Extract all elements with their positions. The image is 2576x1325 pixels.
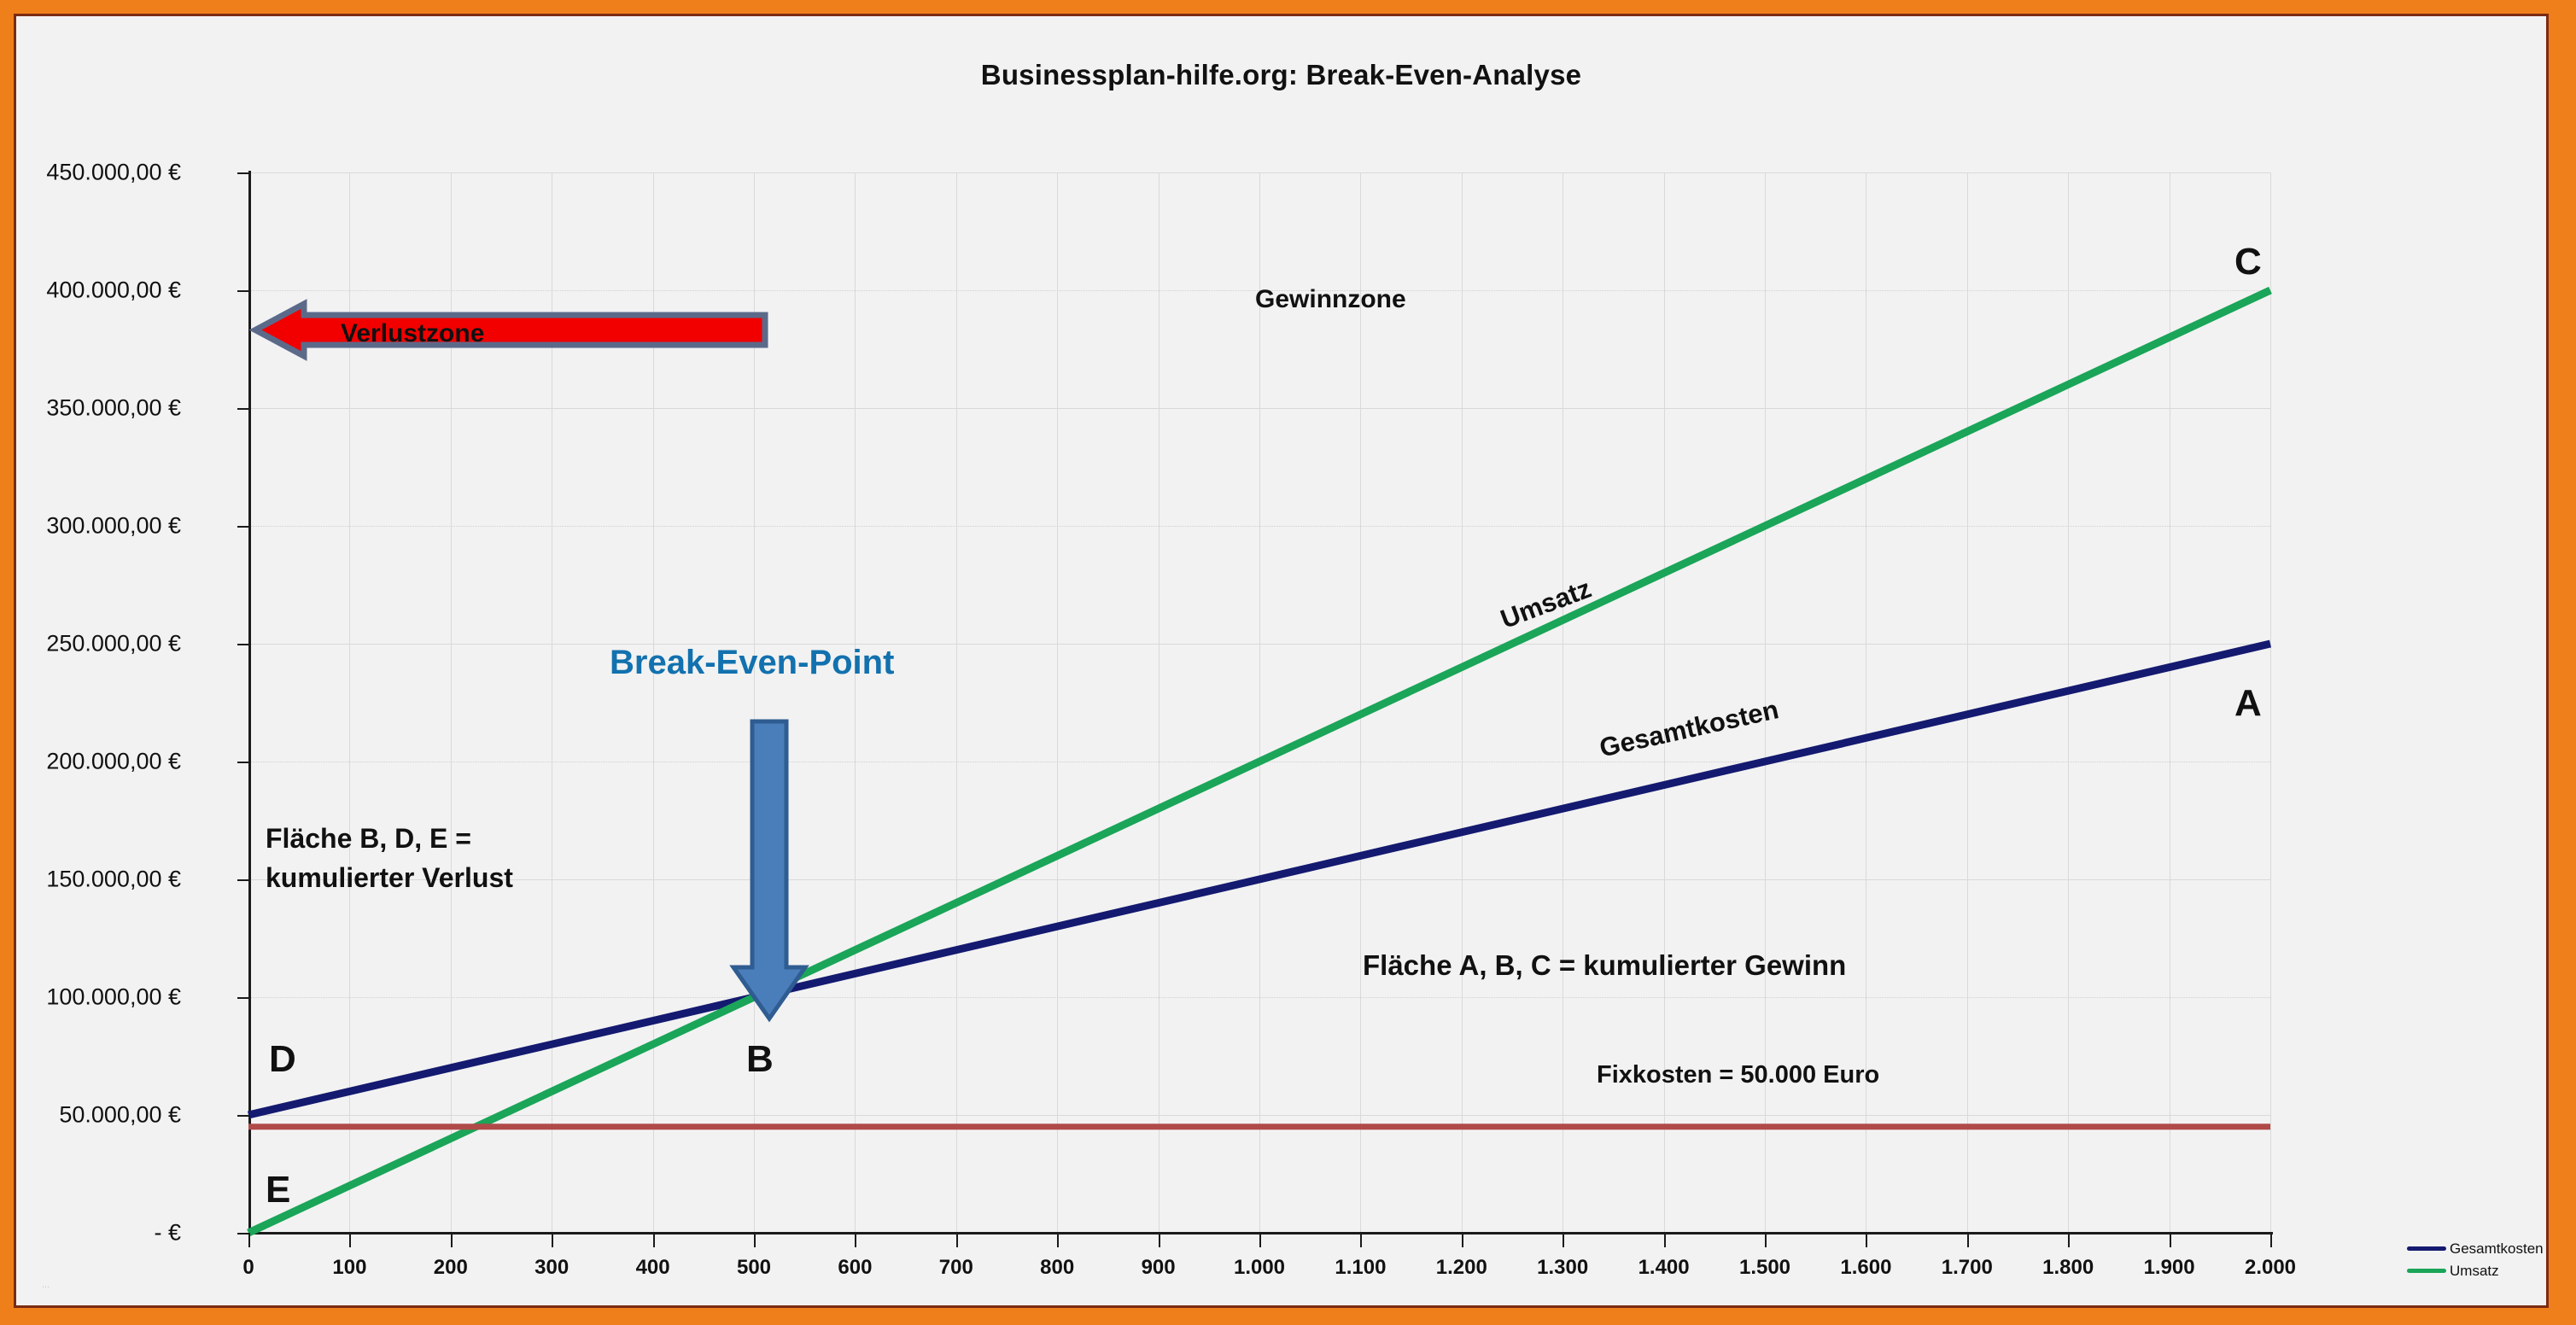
x-axis-tick [349,1235,351,1247]
x-axis-tick-label: 300 [534,1256,569,1280]
x-axis-tick-label: 2.000 [2245,1256,2296,1280]
x-axis-tick [1159,1235,1160,1247]
legend-label: Gesamtkosten [2450,1241,2544,1256]
y-axis-tick [237,290,250,292]
x-axis-tick-label: 0 [242,1256,254,1280]
y-axis-tick-label: 200.000,00 € [0,749,181,775]
gridline-vertical [2270,172,2271,1233]
y-axis-tick [237,1233,250,1235]
series-line-gesamtkosten [248,644,2270,1115]
x-axis-tick [1664,1235,1666,1247]
y-axis-tick [237,526,250,528]
x-axis-tick [855,1235,856,1247]
x-axis-tick-label: 700 [939,1256,973,1280]
annotation-flaeche-gewinn: Fläche A, B, C = kumulierter Gewinn [1363,949,1846,982]
y-axis-tick-label: 350.000,00 € [0,395,181,422]
x-axis-tick [1765,1235,1767,1247]
x-axis-tick [1967,1235,1969,1247]
y-axis-tick-label: 400.000,00 € [0,277,181,304]
area-marker-a: A [2234,682,2262,725]
chart-legend: GesamtkostenUmsatz [2407,1237,2544,1281]
y-axis-tick [237,1115,250,1117]
area-marker-e: E [266,1169,290,1211]
x-axis-tick [956,1235,958,1247]
annotation-verlustzone: Verlustzone [341,319,484,348]
x-axis-tick-label: 600 [838,1256,872,1280]
x-axis-tick-label: 200 [434,1256,468,1280]
y-axis-tick-label: 50.000,00 € [0,1102,181,1129]
x-axis-tick [1360,1235,1362,1247]
y-axis-tick [237,762,250,763]
y-axis-tick-label: - € [0,1220,181,1246]
x-axis-tick [552,1235,553,1247]
series-line-umsatz [248,290,2270,1233]
x-axis-tick [1462,1235,1463,1247]
y-axis-tick-label: 150.000,00 € [0,867,181,893]
x-axis-tick [1563,1235,1564,1247]
x-axis-tick-label: 900 [1142,1256,1176,1280]
x-axis-tick [754,1235,756,1247]
plot-area-wrapper: Businessplan-hilfe.org: Break-Even-Analy… [16,16,2546,1305]
x-axis-tick-label: 1.900 [2144,1256,2195,1280]
page-title: Businessplan-hilfe.org: Break-Even-Analy… [16,59,2546,91]
annotation-gewinnzone: Gewinnzone [1255,285,1406,314]
x-axis-tick [1057,1235,1059,1247]
legend-item[interactable]: Gesamtkosten [2407,1237,2544,1259]
x-axis-tick-label: 1.800 [2042,1256,2094,1280]
y-axis-tick [237,172,250,174]
annotation-flaeche-verlust-line2: kumulierter Verlust [266,862,513,893]
y-axis-tick-label: 450.000,00 € [0,160,181,186]
x-axis-tick [2270,1235,2272,1247]
x-axis-tick-label: 500 [737,1256,771,1280]
area-marker-d: D [269,1038,296,1081]
annotation-fixkosten: Fixkosten = 50.000 Euro [1597,1061,1879,1089]
area-marker-b: B [746,1038,774,1081]
area-marker-c: C [2234,241,2262,283]
annotation-break-even-point: Break-Even-Point [610,644,894,682]
x-axis-tick [451,1235,453,1247]
y-axis-tick [237,644,250,645]
x-axis-tick [1866,1235,1867,1247]
y-axis-tick [237,997,250,999]
x-axis-tick-label: 800 [1040,1256,1074,1280]
annotation-flaeche-verlust: Fläche B, D, E =kumulierter Verlust [266,819,513,898]
x-axis-tick [2068,1235,2070,1247]
x-axis-tick-label: 1.600 [1840,1256,1891,1280]
x-axis-tick-label: 100 [332,1256,366,1280]
y-axis-tick [237,879,250,881]
y-axis-tick-label: 250.000,00 € [0,631,181,657]
y-axis-tick [237,408,250,410]
chart-frame: Businessplan-hilfe.org: Break-Even-Analy… [14,14,2549,1308]
legend-swatch-icon [2407,1269,2446,1273]
x-axis-tick [2170,1235,2171,1247]
y-axis-tick-label: 300.000,00 € [0,513,181,540]
x-axis-tick-label: 1.400 [1638,1256,1690,1280]
x-axis-tick [653,1235,655,1247]
y-axis-tick-label: 100.000,00 € [0,984,181,1011]
legend-label: Umsatz [2450,1264,2499,1278]
legend-item[interactable]: Umsatz [2407,1259,2544,1281]
legend-swatch-icon [2407,1246,2446,1251]
x-axis-tick-label: 1.500 [1739,1256,1790,1280]
annotation-flaeche-verlust-line1: Fläche B, D, E = [266,823,471,854]
x-axis-tick-label: 1.700 [1942,1256,1993,1280]
watermark: ... [42,1280,50,1290]
verlustzone-arrow [248,306,769,358]
x-axis-tick [1259,1235,1261,1247]
x-axis-tick-label: 400 [636,1256,670,1280]
x-axis-tick-label: 1.000 [1234,1256,1285,1280]
x-axis-tick-label: 1.200 [1436,1256,1487,1280]
x-axis-tick [248,1235,250,1247]
x-axis-tick-label: 1.300 [1537,1256,1588,1280]
x-axis-tick-label: 1.100 [1335,1256,1386,1280]
break-even-arrow [721,718,824,1042]
